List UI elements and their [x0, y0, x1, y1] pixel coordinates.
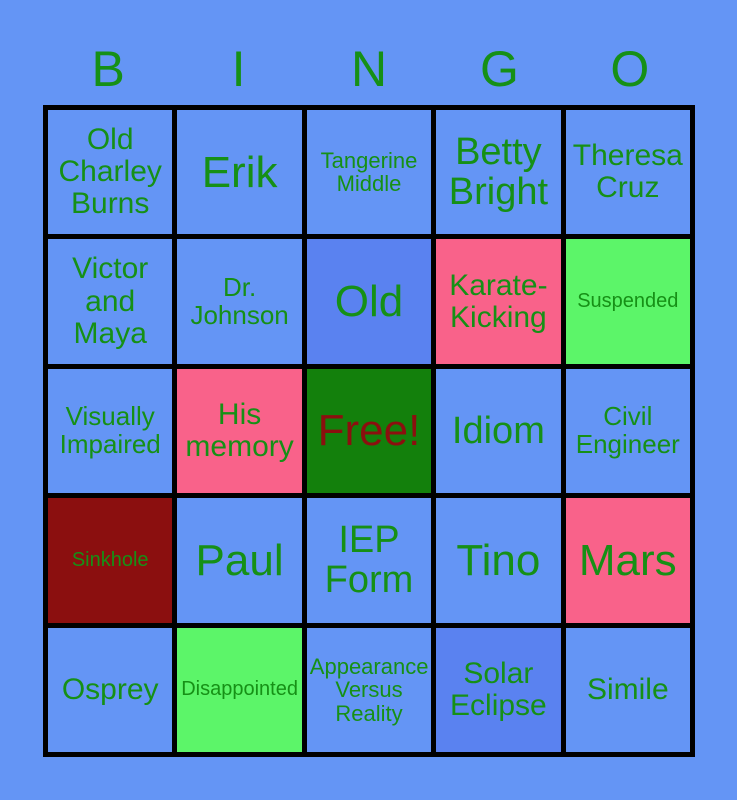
bingo-card: B I N G O Old Charley BurnsErikTangerine… [0, 0, 737, 800]
bingo-cell-label: Disappointed [180, 679, 298, 700]
bingo-cell-r3c2[interactable]: His memory [177, 369, 301, 493]
header-letter-o: O [565, 44, 695, 94]
bingo-cell-r5c1[interactable]: Osprey [48, 628, 172, 752]
bingo-cell-r5c5[interactable]: Simile [566, 628, 690, 752]
bingo-cell-r2c1[interactable]: Victor and Maya [48, 239, 172, 363]
bingo-cell-label: Visually Impaired [51, 403, 169, 459]
header-letter-g: G [434, 44, 564, 94]
bingo-cell-r1c3[interactable]: Tangerine Middle [307, 110, 431, 234]
bingo-cell-label: Dr. Johnson [180, 274, 298, 330]
header-letter-i: I [173, 44, 303, 94]
bingo-cell-label: Appearance Versus Reality [310, 655, 428, 726]
bingo-cell-r1c4[interactable]: Betty Bright [436, 110, 560, 234]
header-letter-n: N [304, 44, 434, 94]
bingo-cell-r5c2[interactable]: Disappointed [177, 628, 301, 752]
bingo-cell-label: Osprey [51, 674, 169, 706]
bingo-cell-r3c1[interactable]: Visually Impaired [48, 369, 172, 493]
bingo-cell-label: Tangerine Middle [310, 149, 428, 196]
bingo-cell-r2c3[interactable]: Old [307, 239, 431, 363]
bingo-cell-r4c4[interactable]: Tino [436, 498, 560, 622]
bingo-cell-label: Theresa Cruz [569, 140, 687, 204]
bingo-cell-label: Karate- Kicking [439, 270, 557, 334]
bingo-grid: Old Charley BurnsErikTangerine MiddleBet… [43, 105, 695, 757]
bingo-cell-r1c2[interactable]: Erik [177, 110, 301, 234]
bingo-cell-label: Civil Engineer [569, 403, 687, 459]
bingo-cell-label: Solar Eclipse [439, 658, 557, 722]
bingo-cell-r1c1[interactable]: Old Charley Burns [48, 110, 172, 234]
bingo-cell-label: Simile [569, 674, 687, 706]
bingo-cell-r3c3[interactable]: Free! [307, 369, 431, 493]
bingo-cell-label: Old [310, 278, 428, 325]
bingo-cell-label: Free! [310, 407, 428, 454]
bingo-cell-r2c2[interactable]: Dr. Johnson [177, 239, 301, 363]
bingo-cell-r3c5[interactable]: Civil Engineer [566, 369, 690, 493]
bingo-cell-label: Paul [180, 537, 298, 584]
bingo-cell-r4c1[interactable]: Sinkhole [48, 498, 172, 622]
bingo-cell-label: His memory [180, 399, 298, 463]
bingo-cell-r3c4[interactable]: Idiom [436, 369, 560, 493]
bingo-cell-label: Idiom [439, 411, 557, 452]
bingo-cell-r5c3[interactable]: Appearance Versus Reality [307, 628, 431, 752]
bingo-cell-r1c5[interactable]: Theresa Cruz [566, 110, 690, 234]
bingo-cell-label: Suspended [569, 291, 687, 312]
bingo-cell-label: Tino [439, 537, 557, 584]
bingo-cell-label: Mars [569, 537, 687, 584]
bingo-cell-r2c4[interactable]: Karate- Kicking [436, 239, 560, 363]
bingo-cell-label: Betty Bright [439, 132, 557, 213]
bingo-cell-r5c4[interactable]: Solar Eclipse [436, 628, 560, 752]
bingo-header: B I N G O [43, 38, 695, 100]
bingo-cell-r4c2[interactable]: Paul [177, 498, 301, 622]
bingo-cell-label: IEP Form [310, 520, 428, 601]
bingo-cell-r4c5[interactable]: Mars [566, 498, 690, 622]
bingo-cell-label: Sinkhole [51, 550, 169, 571]
bingo-cell-label: Old Charley Burns [51, 124, 169, 220]
bingo-cell-r4c3[interactable]: IEP Form [307, 498, 431, 622]
header-letter-b: B [43, 44, 173, 94]
bingo-cell-label: Victor and Maya [51, 253, 169, 349]
bingo-cell-r2c5[interactable]: Suspended [566, 239, 690, 363]
bingo-cell-label: Erik [180, 149, 298, 196]
